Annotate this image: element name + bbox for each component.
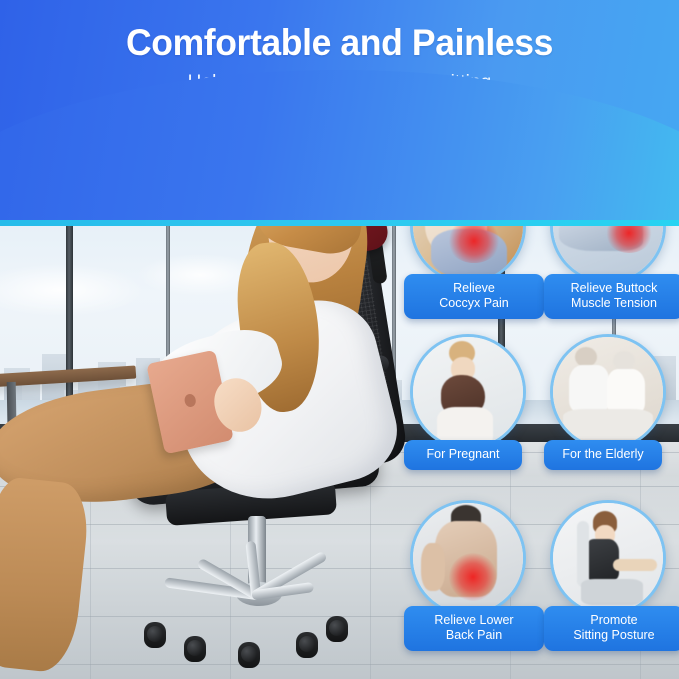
benefit-label-line1: For the Elderly	[555, 447, 651, 462]
benefit-label-line2: Back Pain	[415, 628, 533, 643]
benefit-label-line1: Relieve	[415, 281, 533, 296]
benefit-label-line1: For Pregnant	[415, 447, 511, 462]
benefit-item[interactable]: Relieve LowerBack Pain	[404, 500, 534, 666]
leg-shin	[0, 476, 92, 675]
elderly-couple-photo-icon	[550, 334, 666, 450]
benefit-label-badge: Relieve ButtockMuscle Tension	[544, 274, 679, 319]
product-marketing-poster: Comfortable and Painless Help to Elimina…	[0, 0, 679, 679]
page-title: Comfortable and Painless	[14, 22, 666, 64]
benefit-label-line1: Relieve Lower	[415, 613, 533, 628]
benefit-item[interactable]: PromoteSitting Posture	[544, 500, 674, 666]
pregnant-woman-photo-icon	[410, 334, 526, 450]
benefit-label-badge: RelieveCoccyx Pain	[404, 274, 544, 319]
benefit-label-badge: Relieve LowerBack Pain	[404, 606, 544, 651]
benefit-item[interactable]: For Pregnant	[404, 334, 534, 500]
benefit-label-line2: Muscle Tension	[555, 296, 673, 311]
benefit-label-badge: PromoteSitting Posture	[544, 606, 679, 651]
benefit-label-line1: Promote	[555, 613, 673, 628]
lower-back-pain-photo-icon	[410, 500, 526, 616]
seated-woman	[0, 150, 420, 679]
benefit-item[interactable]: For the Elderly	[544, 334, 674, 500]
benefit-label-line1: Relieve Buttock	[555, 281, 673, 296]
benefit-label-badge: For the Elderly	[544, 440, 662, 470]
tablet-logo-icon	[183, 393, 196, 408]
benefit-label-line2: Coccyx Pain	[415, 296, 533, 311]
benefit-grid: RelieveCoccyx PainRelieve ButtockMuscle …	[404, 168, 679, 668]
benefit-label-badge: For Pregnant	[404, 440, 522, 470]
benefit-label-line2: Sitting Posture	[555, 628, 673, 643]
sitting-posture-photo-icon	[550, 500, 666, 616]
